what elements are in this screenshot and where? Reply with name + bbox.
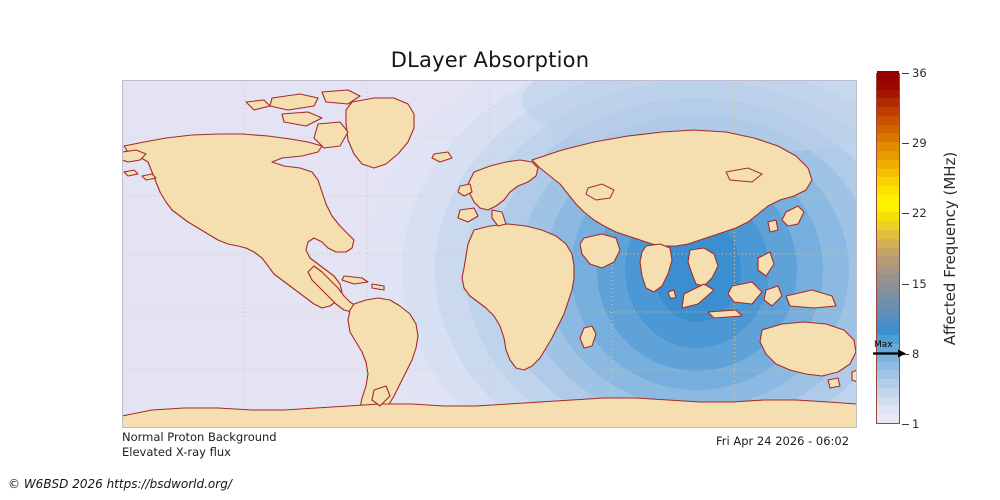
colorbar-band	[877, 203, 899, 212]
colorbar-band	[877, 142, 899, 151]
colorbar-band	[877, 361, 899, 370]
colorbar-gradient	[876, 73, 900, 424]
colorbar-band	[877, 396, 899, 405]
colorbar-band	[877, 177, 899, 186]
colorbar-band	[877, 150, 899, 159]
colorbar-tick-mark	[902, 424, 909, 425]
land-tasmania	[828, 378, 840, 388]
colorbar-band	[877, 317, 899, 326]
page-title: DLayer Absorption	[0, 48, 980, 72]
colorbar-band	[877, 247, 899, 256]
colorbar-band	[877, 273, 899, 282]
land-sri-lanka	[668, 290, 676, 298]
colorbar-tick-label: 36	[912, 66, 927, 80]
colorbar-band	[877, 387, 899, 396]
colorbar-band	[877, 256, 899, 265]
colorbar-band	[877, 221, 899, 230]
colorbar-tick-label: 8	[912, 347, 919, 361]
colorbar-band	[877, 370, 899, 379]
colorbar[interactable]: 1815222936 Max Affected Frequency (MHz)	[876, 73, 900, 424]
colorbar-band	[877, 264, 899, 273]
colorbar-band	[877, 185, 899, 194]
colorbar-band	[877, 124, 899, 133]
copyright-notice: © W6BSD 2026 https://bsdworld.org/	[8, 477, 232, 491]
colorbar-band	[877, 159, 899, 168]
colorbar-band	[877, 300, 899, 309]
colorbar-band	[877, 326, 899, 335]
colorbar-tick-mark	[902, 73, 909, 74]
colorbar-tick-mark	[902, 213, 909, 214]
land-korea	[768, 220, 778, 232]
colorbar-band	[877, 194, 899, 203]
colorbar-band	[877, 115, 899, 124]
timestamp: Fri Apr 24 2026 - 06:02	[716, 434, 849, 448]
colorbar-band	[877, 80, 899, 89]
colorbar-tick-label: 1	[912, 417, 919, 431]
colorbar-band	[877, 229, 899, 238]
colorbar-band	[877, 212, 899, 221]
colorbar-tick-label: 15	[912, 277, 927, 291]
colorbar-max-arrow	[872, 349, 906, 358]
colorbar-band	[877, 308, 899, 317]
colorbar-band	[877, 71, 899, 80]
world-map	[122, 80, 857, 428]
colorbar-band	[877, 133, 899, 142]
colorbar-tick-mark	[902, 284, 909, 285]
colorbar-band	[877, 379, 899, 388]
colorbar-band	[877, 238, 899, 247]
colorbar-tick-label: 29	[912, 136, 927, 150]
land-java	[708, 310, 742, 318]
note-xray-flux: Elevated X-ray flux	[122, 445, 231, 459]
colorbar-band	[877, 405, 899, 414]
colorbar-band	[877, 168, 899, 177]
colorbar-band	[877, 291, 899, 300]
colorbar-tick-label: 22	[912, 206, 927, 220]
note-proton-background: Normal Proton Background	[122, 430, 277, 444]
colorbar-band	[877, 98, 899, 107]
figure-root: DLayer Absorption	[0, 0, 1000, 500]
map-axes[interactable]	[122, 80, 857, 428]
colorbar-title: Affected Frequency (MHz)	[940, 73, 960, 424]
colorbar-band	[877, 414, 899, 423]
colorbar-band	[877, 107, 899, 116]
colorbar-band	[877, 89, 899, 98]
colorbar-tick-mark	[902, 143, 909, 144]
colorbar-max-label: Max	[874, 340, 893, 350]
colorbar-band	[877, 282, 899, 291]
